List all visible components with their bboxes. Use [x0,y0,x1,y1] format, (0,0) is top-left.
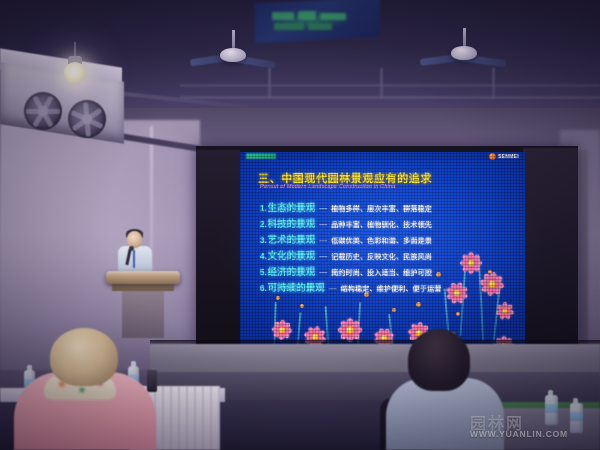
bullet-number: 5. [260,268,267,277]
truss-post-3 [492,68,495,98]
led-screen-frame-left [196,150,240,346]
bullet-number: 6. [260,284,267,293]
bullet-dash: — [319,268,327,277]
presentation-slide: SENMEI 三、中国现代园林景观应有的追求 Persuit of Modern… [240,152,525,346]
slide-header-left-tag [246,153,276,159]
ceiling-fan-motor-2 [451,46,477,60]
flower-blossom [478,270,506,298]
ceiling-banner-text [268,8,368,34]
water-bottle [570,403,583,433]
water-bottle [545,395,558,425]
bottle-label [545,404,558,413]
flower-blossom [494,300,516,322]
slide-subtitle: Persuit of Modern Landscape Construction… [260,184,395,190]
bullet-dash: — [319,220,327,229]
list-item: 3. 艺术的景观 — 低碳优美、色彩和谐、多面是景 [260,232,510,248]
bullet-key: 文化的景观 [268,248,316,262]
wall-strip-right [578,150,588,365]
flower-bud [416,302,421,307]
truss-line-2 [180,84,600,87]
light-bulb-icon [64,62,86,84]
audience-head-right [408,329,470,391]
audience-head-left [50,328,118,386]
truss-post-1 [268,68,271,98]
flower-bud [456,312,460,316]
led-screen-frame-right [523,148,578,348]
slide-header-bar [240,152,525,160]
slide-brand-logo: SENMEI [489,153,519,160]
photo-scene: SENMEI 三、中国现代园林景观应有的追求 Persuit of Modern… [0,0,600,450]
bullet-number: 4. [260,252,267,261]
truss-line-1 [180,96,600,99]
bottle-label [570,412,583,421]
list-item: 1. 生态的景观 — 植物多样、层次丰富、群落稳定 [260,200,510,216]
bullet-dash: — [319,204,327,213]
bullet-description: 记载历史、反映文化、民族风尚 [331,252,432,262]
flower-bud [392,308,396,312]
bullet-key: 可持续的景观 [268,280,325,294]
bullet-number: 1. [260,204,267,213]
ceiling-fan-motor-1 [220,48,246,62]
ac-fan-left [24,92,62,130]
list-item: 2. 科技的景观 — 品种丰富、植物驯化、技术领先 [260,216,510,232]
podium-desktop [106,271,180,284]
flower-bud [300,304,304,308]
truss-post-2 [380,68,383,98]
bullet-description: 结构稳定、维护便利、便于运营 [341,284,442,294]
bullet-key: 生态的景观 [268,200,316,214]
ac-fan-right [68,100,106,138]
brand-mark-icon [489,153,496,160]
bullet-dash: — [319,252,327,261]
bullet-key: 科技的景观 [268,216,316,230]
bullet-number: 2. [260,220,267,229]
flower-blossom [444,280,470,306]
flower-bud [364,292,369,297]
microphone-icon [129,246,134,251]
podium-column [122,290,164,338]
bullet-key: 艺术的景观 [268,232,316,246]
bullet-dash: — [329,284,337,293]
ceiling-fan-rod-1 [232,30,235,50]
flower-bud [436,272,441,277]
brand-name-label: SENMEI [498,154,519,160]
bullet-number: 3. [260,236,267,245]
bullet-key: 经济的景观 [268,264,316,278]
bullet-description: 低碳优美、色彩和谐、多面是景 [331,236,432,246]
flower-bud [276,296,280,300]
bullet-dash: — [319,236,327,245]
speaker-lanyard [133,250,135,268]
bullet-description: 植物多样、层次丰富、群落稳定 [331,204,432,214]
bullet-description: 品种丰富、植物驯化、技术领先 [331,220,432,230]
ceiling-fan-rod-2 [463,28,466,48]
slide-bullet-list: 1. 生态的景观 — 植物多样、层次丰富、群落稳定 2. 科技的景观 — 品种丰… [260,200,510,296]
bullet-description: 简约时尚、投入适当、维护可控 [331,268,432,278]
beverage-can [147,370,157,392]
flower-blossom [270,318,294,342]
list-item: 6. 可持续的景观 — 结构稳定、维护便利、便于运营 [260,280,510,296]
